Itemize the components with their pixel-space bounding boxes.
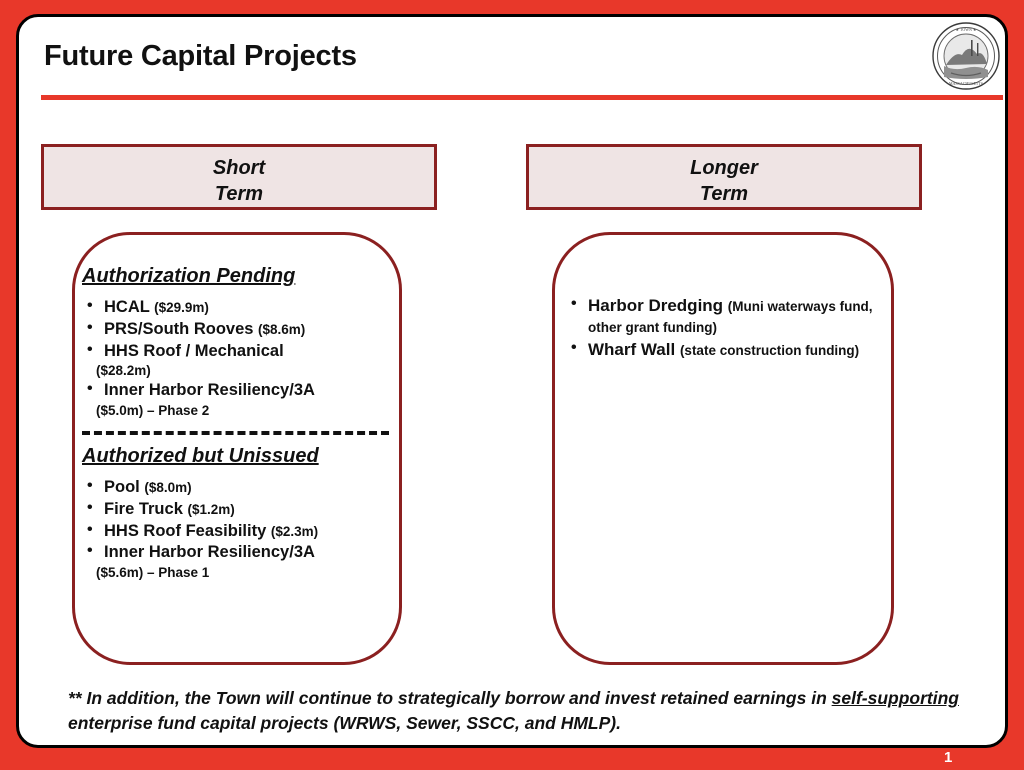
- project-label: Inner Harbor Resiliency/3A: [104, 381, 315, 399]
- authorized-but-unissued-list: Pool ($8.0m) Fire Truck ($1.2m) HHS Roof…: [82, 477, 397, 581]
- column-header-short-term-line1: Short: [44, 156, 434, 182]
- slide: Future Capital Projects ★ TOWN ★ MASSACH…: [0, 0, 1024, 770]
- project-label: Inner Harbor Resiliency/3A: [104, 543, 315, 561]
- project-subline: ($5.0m) – Phase 2: [96, 402, 397, 419]
- project-amount: ($29.9m): [154, 300, 209, 315]
- list-item: Harbor Dredging (Muni waterways fund, ot…: [566, 295, 886, 337]
- column-header-short-term: Short Term: [41, 144, 437, 210]
- project-subline: ($5.6m) – Phase 1: [96, 564, 397, 581]
- longer-term-list: Harbor Dredging (Muni waterways fund, ot…: [566, 295, 886, 360]
- town-seal-icon: ★ TOWN ★ MASSACHUSETTS: [931, 21, 1001, 91]
- page-title: Future Capital Projects: [44, 40, 357, 73]
- project-label: Harbor Dredging: [588, 296, 723, 315]
- column-header-longer-term-line1: Longer: [529, 156, 919, 182]
- list-item: HHS Roof Feasibility ($2.3m): [82, 521, 397, 542]
- project-amount: ($1.2m): [187, 502, 234, 517]
- authorization-pending-list: HCAL ($29.9m) PRS/South Rooves ($8.6m) H…: [82, 297, 397, 419]
- list-item: Wharf Wall (state construction funding): [566, 339, 886, 360]
- project-amount: ($2.3m): [271, 524, 318, 539]
- list-item: HHS Roof / Mechanical ($28.2m): [82, 341, 397, 380]
- longer-term-content: Harbor Dredging (Muni waterways fund, ot…: [566, 295, 886, 362]
- title-underline-rule: [41, 95, 1003, 100]
- footnote-underlined: self-supporting: [832, 688, 959, 708]
- column-header-longer-term: Longer Term: [526, 144, 922, 210]
- footnote-lead: ** In addition, the Town will continue t…: [68, 688, 832, 708]
- column-header-short-term-line2: Term: [44, 182, 434, 208]
- svg-text:MASSACHUSETTS: MASSACHUSETTS: [949, 81, 983, 86]
- project-label: Wharf Wall: [588, 340, 675, 359]
- project-label: HCAL: [104, 298, 150, 316]
- project-amount: ($8.6m): [258, 322, 305, 337]
- list-item: Inner Harbor Resiliency/3A ($5.0m) – Pha…: [82, 380, 397, 419]
- list-item: Inner Harbor Resiliency/3A ($5.6m) – Pha…: [82, 542, 397, 581]
- project-label: Fire Truck: [104, 500, 183, 518]
- list-item: Pool ($8.0m): [82, 477, 397, 498]
- svg-text:★ TOWN ★: ★ TOWN ★: [955, 27, 976, 32]
- page-number: 1: [944, 749, 952, 766]
- short-term-content: Authorization Pending HCAL ($29.9m) PRS/…: [82, 265, 397, 582]
- section-divider: [82, 431, 389, 435]
- section-title-authorized-but-unissued: Authorized but Unissued: [82, 445, 397, 468]
- project-amount: ($8.0m): [144, 480, 191, 495]
- footnote: ** In addition, the Town will continue t…: [68, 686, 973, 736]
- project-note: (state construction funding): [680, 343, 859, 358]
- section-title-authorization-pending: Authorization Pending: [82, 265, 397, 288]
- list-item: HCAL ($29.9m): [82, 297, 397, 318]
- project-subline: ($28.2m): [96, 362, 397, 379]
- list-item: Fire Truck ($1.2m): [82, 499, 397, 520]
- footnote-tail: enterprise fund capital projects (WRWS, …: [68, 713, 621, 733]
- project-label: HHS Roof / Mechanical: [104, 342, 284, 360]
- project-label: HHS Roof Feasibility: [104, 522, 266, 540]
- column-header-longer-term-line2: Term: [529, 182, 919, 208]
- project-label: Pool: [104, 478, 140, 496]
- project-label: PRS/South Rooves: [104, 320, 253, 338]
- list-item: PRS/South Rooves ($8.6m): [82, 319, 397, 340]
